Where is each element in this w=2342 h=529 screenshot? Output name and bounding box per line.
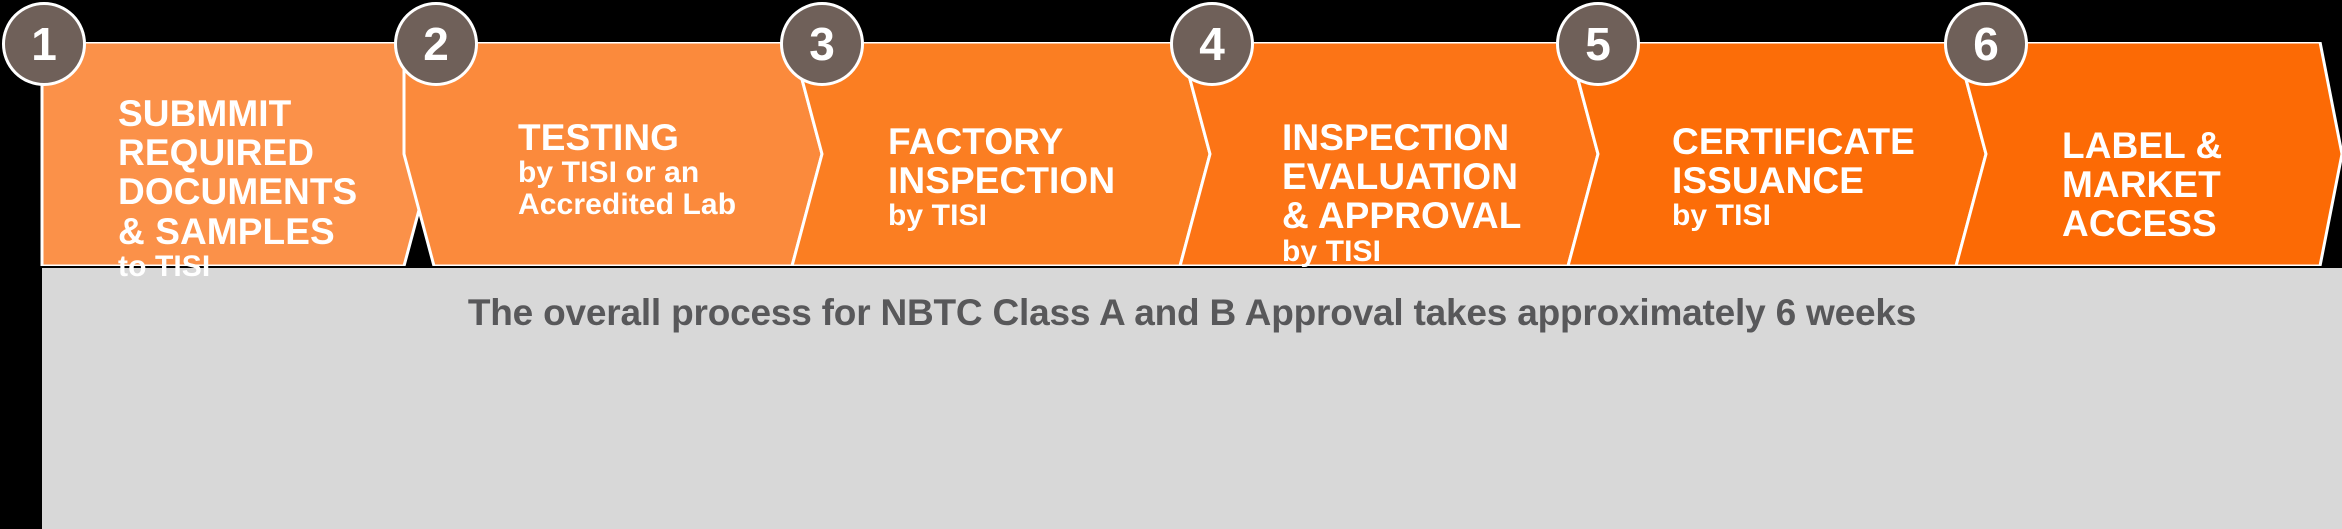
step-badge-6[interactable]: 6 — [1944, 2, 2028, 86]
step-heading-5: CERTIFICATE ISSUANCE — [1672, 122, 1915, 200]
step-badge-2[interactable]: 2 — [394, 2, 478, 86]
process-flow-diagram: SUBMMIT REQUIRED DOCUMENTS & SAMPLES to … — [0, 0, 2342, 529]
step-heading-2: TESTING — [518, 118, 736, 157]
step-badge-4[interactable]: 4 — [1170, 2, 1254, 86]
step-text-4: INSPECTION EVALUATION & APPROVAL by TISI — [1282, 118, 1521, 267]
step-heading-4: INSPECTION EVALUATION & APPROVAL — [1282, 118, 1521, 236]
step-badge-1[interactable]: 1 — [2, 2, 86, 86]
step-text-5: CERTIFICATE ISSUANCE by TISI — [1672, 122, 1915, 232]
step-number-2: 2 — [423, 21, 449, 67]
step-badge-3[interactable]: 3 — [780, 2, 864, 86]
step-subtext-5: by TISI — [1672, 200, 1915, 232]
step-badge-5[interactable]: 5 — [1556, 2, 1640, 86]
step-number-6: 6 — [1973, 21, 1999, 67]
step-text-6: LABEL & MARKET ACCESS — [2062, 126, 2222, 244]
step-number-5: 5 — [1585, 21, 1611, 67]
step-text-3: FACTORY INSPECTION by TISI — [888, 122, 1115, 232]
step-heading-1: SUBMMIT REQUIRED DOCUMENTS & SAMPLES — [118, 94, 357, 251]
step-number-4: 4 — [1199, 21, 1225, 67]
step-text-1: SUBMMIT REQUIRED DOCUMENTS & SAMPLES to … — [118, 94, 357, 283]
step-heading-6: LABEL & MARKET ACCESS — [2062, 126, 2222, 244]
step-subtext-3: by TISI — [888, 200, 1115, 232]
step-text-2: TESTING by TISI or an Accredited Lab — [518, 118, 736, 221]
overall-process-caption: The overall process for NBTC Class A and… — [42, 268, 2342, 358]
step-heading-3: FACTORY INSPECTION — [888, 122, 1115, 200]
step-number-1: 1 — [31, 21, 57, 67]
step-subtext-2: by TISI or an Accredited Lab — [518, 157, 736, 221]
step-number-3: 3 — [809, 21, 835, 67]
step-subtext-4: by TISI — [1282, 236, 1521, 268]
